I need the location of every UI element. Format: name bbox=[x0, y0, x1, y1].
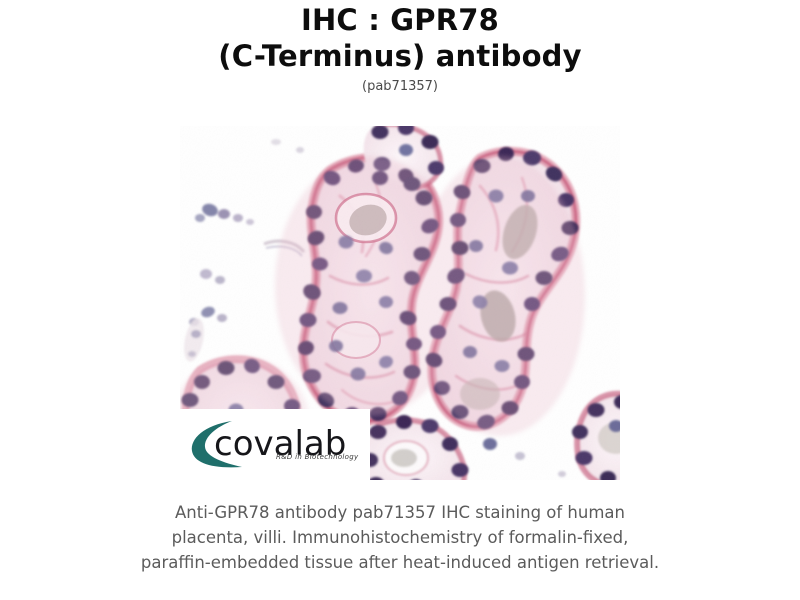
page-title-line-2: (C-Terminus) antibody bbox=[0, 38, 800, 74]
caption-line-2: placenta, villi. Immunohistochemistry of… bbox=[40, 525, 760, 550]
catalog-number: (pab71357) bbox=[0, 78, 800, 96]
page-title-line-1: IHC : GPR78 bbox=[0, 2, 800, 38]
product-image-card: IHC : GPR78 (C-Terminus) antibody (pab71… bbox=[0, 0, 800, 600]
figure-caption: Anti-GPR78 antibody pab71357 IHC stainin… bbox=[40, 500, 760, 575]
caption-line-1: Anti-GPR78 antibody pab71357 IHC stainin… bbox=[40, 500, 760, 525]
covalab-tagline: R&D in Biotechnology bbox=[276, 453, 358, 461]
covalab-logo-watermark: covalab R&D in Biotechnology bbox=[180, 409, 370, 480]
micrograph-figure: covalab R&D in Biotechnology bbox=[180, 126, 620, 480]
covalab-logo-icon: covalab bbox=[186, 413, 366, 471]
caption-line-3: paraffin-embedded tissue after heat-indu… bbox=[40, 550, 760, 575]
figure-header: IHC : GPR78 (C-Terminus) antibody (pab71… bbox=[0, 2, 800, 96]
